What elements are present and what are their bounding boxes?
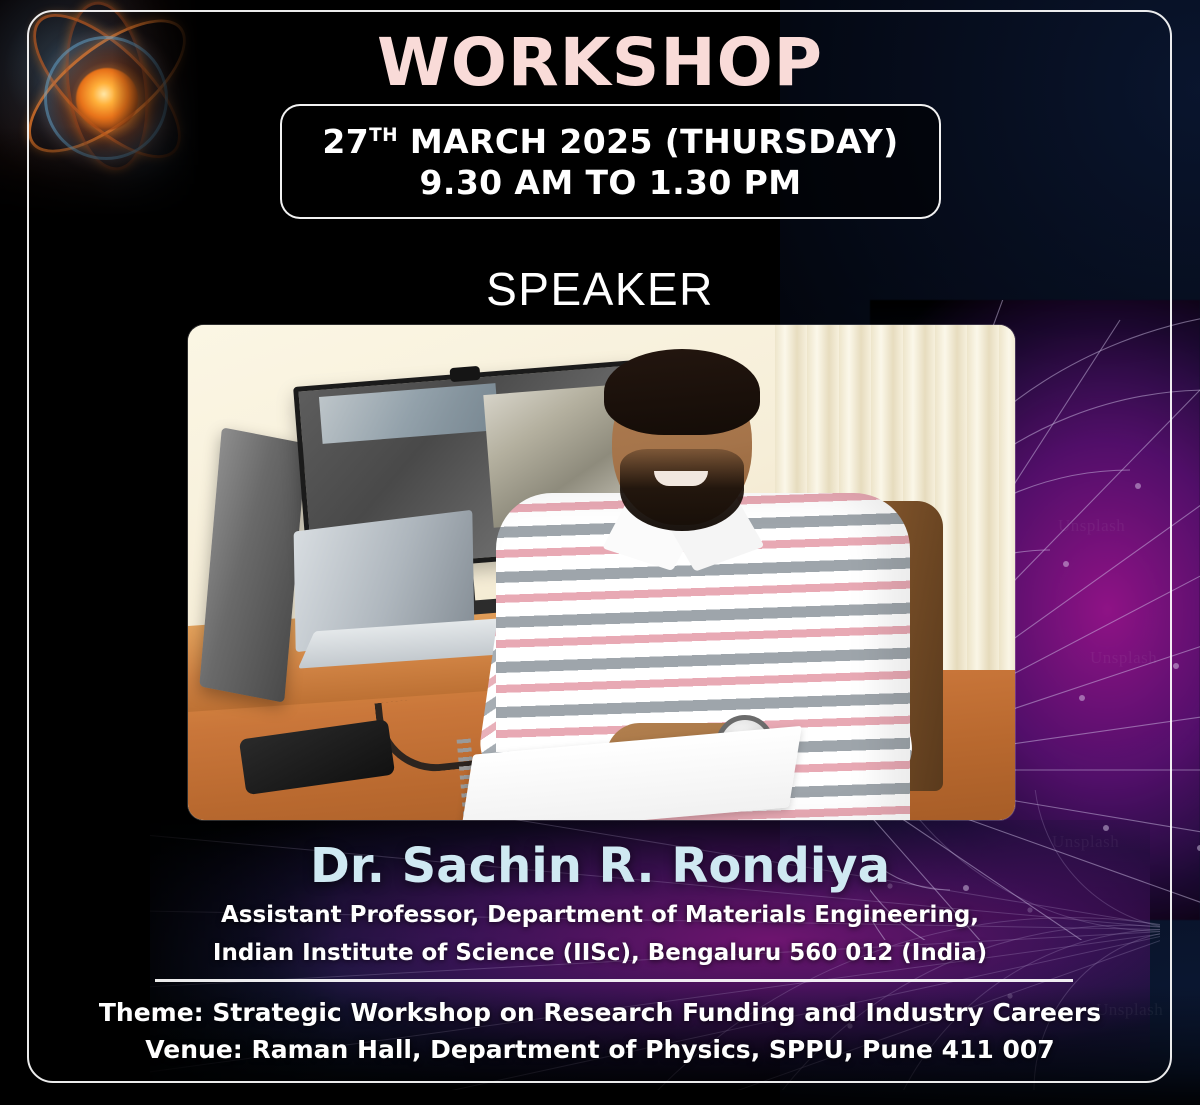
date-rest: MARCH 2025 (THURSDAY) [398, 122, 899, 161]
time-line: 9.30 AM TO 1.30 PM [420, 163, 802, 202]
speaker-name: Dr. Sachin R. Rondiya [0, 838, 1200, 894]
speaker-label: SPEAKER [0, 262, 1200, 316]
section-divider [155, 979, 1073, 982]
watermark-text: Unsplash [1058, 516, 1125, 536]
speaker-photo [188, 325, 1015, 820]
speaker-affiliation-line-1: Assistant Professor, Department of Mater… [0, 902, 1200, 928]
venue-line: Venue: Raman Hall, Department of Physics… [0, 1035, 1200, 1064]
date-line: 27TH MARCH 2025 (THURSDAY) [322, 122, 898, 161]
photo-person-beard [620, 449, 744, 531]
date-day: 27 [322, 122, 369, 161]
workshop-poster: Unsplash Unsplash Unsplash Unsplash WORK… [0, 0, 1200, 1105]
photo-webcam [449, 366, 480, 382]
watermark-text: Unsplash [1090, 648, 1157, 668]
photo-monitor-content-top [319, 383, 499, 444]
date-ordinal: TH [369, 125, 398, 146]
photo-person-hair [604, 349, 760, 435]
date-time-box: 27TH MARCH 2025 (THURSDAY) 9.30 AM TO 1.… [280, 104, 941, 219]
page-title: WORKSHOP [0, 24, 1200, 101]
photo-person-smile [654, 471, 708, 486]
theme-line: Theme: Strategic Workshop on Research Fu… [0, 998, 1200, 1027]
speaker-affiliation-line-2: Indian Institute of Science (IISc), Beng… [0, 940, 1200, 966]
